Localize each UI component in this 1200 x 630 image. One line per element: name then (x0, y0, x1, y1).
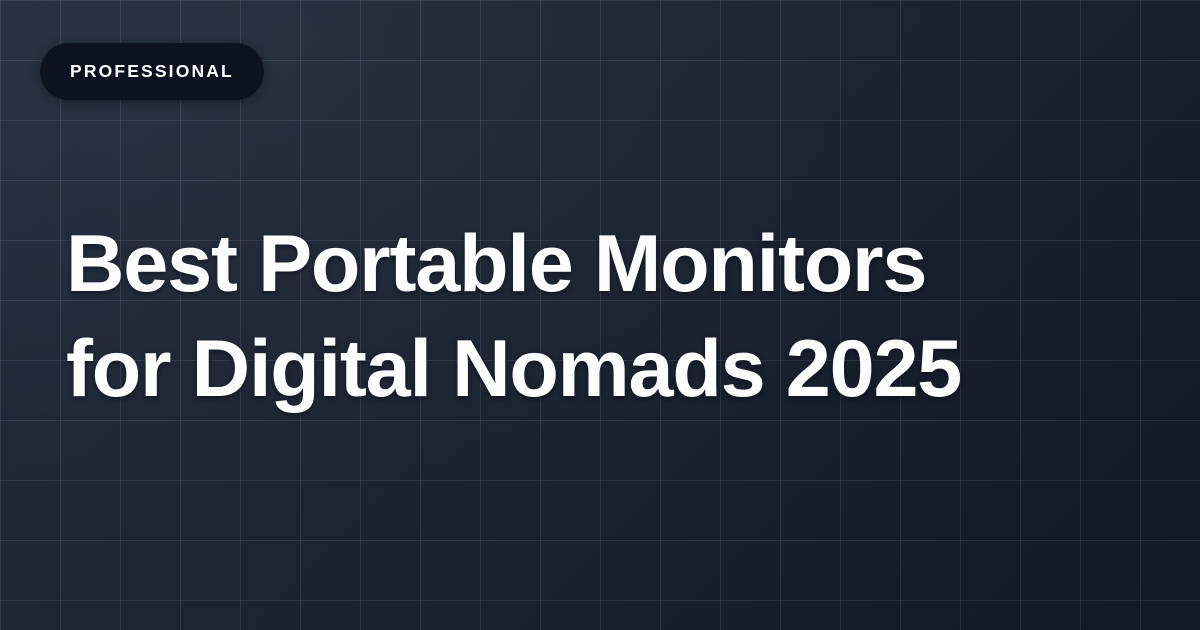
card-content: PROFESSIONAL Best Portable Monitors for … (0, 0, 1200, 630)
category-badge-label: PROFESSIONAL (70, 63, 234, 81)
og-social-card: PROFESSIONAL Best Portable Monitors for … (0, 0, 1200, 630)
page-title-line-2: for Digital Nomads 2025 (66, 317, 1146, 422)
page-title-line-1: Best Portable Monitors (66, 212, 1146, 317)
page-title: Best Portable Monitors for Digital Nomad… (66, 212, 1146, 422)
category-badge: PROFESSIONAL (40, 43, 264, 100)
